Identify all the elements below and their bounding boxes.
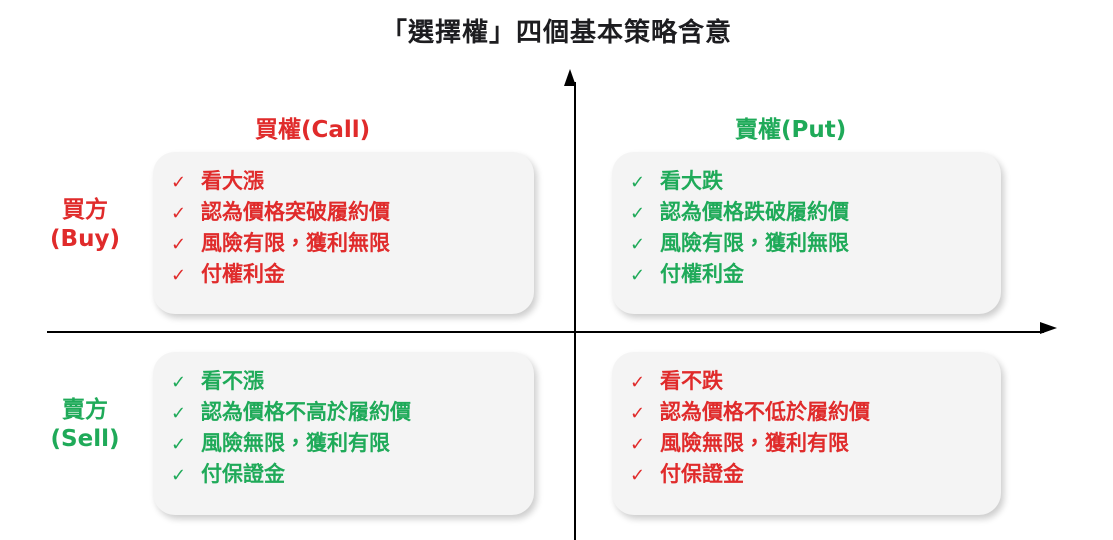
check-icon: ✓	[630, 170, 660, 196]
list-item: ✓ 看不漲	[171, 366, 516, 397]
list-item: ✓ 認為價格不高於履約價	[171, 397, 516, 428]
list-item-label: 看不漲	[201, 366, 264, 397]
list-item-label: 付保證金	[201, 459, 285, 490]
diagram-canvas: 「選擇權」四個基本策略含意 買權(Call) 賣權(Put) 買方 (Buy) …	[0, 0, 1113, 540]
check-icon: ✓	[171, 401, 201, 427]
list-item-label: 認為價格不低於履約價	[660, 397, 870, 428]
bullet-list-sell-put: ✓ 看不跌 ✓ 認為價格不低於履約價 ✓ 風險無限，獲利有限 ✓ 付保證金	[630, 366, 983, 489]
vertical-axis-line	[574, 82, 576, 540]
list-item: ✓ 付保證金	[171, 459, 516, 490]
check-icon: ✓	[630, 201, 660, 227]
row-header-buy-line2: (Buy)	[20, 225, 150, 254]
check-icon: ✓	[630, 370, 660, 396]
list-item-label: 看不跌	[660, 366, 723, 397]
list-item-label: 付權利金	[660, 259, 744, 290]
list-item-label: 風險無限，獲利有限	[660, 428, 849, 459]
check-icon: ✓	[171, 463, 201, 489]
list-item-label: 認為價格跌破履約價	[660, 197, 849, 228]
row-header-sell-line2: (Sell)	[20, 425, 150, 454]
check-icon: ✓	[171, 370, 201, 396]
page-title: 「選擇權」四個基本策略含意	[0, 12, 1113, 49]
list-item: ✓ 認為價格突破履約價	[171, 197, 516, 228]
list-item-label: 看大跌	[660, 166, 723, 197]
list-item: ✓ 認為價格跌破履約價	[630, 197, 983, 228]
list-item: ✓ 看大漲	[171, 166, 516, 197]
list-item: ✓ 風險無限，獲利有限	[171, 428, 516, 459]
check-icon: ✓	[171, 201, 201, 227]
list-item: ✓ 看不跌	[630, 366, 983, 397]
check-icon: ✓	[630, 463, 660, 489]
bullet-list-sell-call: ✓ 看不漲 ✓ 認為價格不高於履約價 ✓ 風險無限，獲利有限 ✓ 付保證金	[171, 366, 516, 489]
bullet-list-buy-call: ✓ 看大漲 ✓ 認為價格突破履約價 ✓ 風險有限，獲利無限 ✓ 付權利金	[171, 166, 516, 289]
list-item-label: 風險有限，獲利無限	[660, 228, 849, 259]
arrow-right-icon	[1040, 322, 1057, 334]
check-icon: ✓	[630, 263, 660, 289]
quadrant-card-sell-call: ✓ 看不漲 ✓ 認為價格不高於履約價 ✓ 風險無限，獲利有限 ✓ 付保證金	[153, 352, 534, 515]
bullet-list-buy-put: ✓ 看大跌 ✓ 認為價格跌破履約價 ✓ 風險有限，獲利無限 ✓ 付權利金	[630, 166, 983, 289]
list-item: ✓ 付權利金	[630, 259, 983, 290]
row-header-sell-line1: 賣方	[20, 396, 150, 425]
list-item-label: 付權利金	[201, 259, 285, 290]
list-item: ✓ 付權利金	[171, 259, 516, 290]
row-header-buy-line1: 買方	[20, 196, 150, 225]
list-item: ✓ 認為價格不低於履約價	[630, 397, 983, 428]
list-item: ✓ 付保證金	[630, 459, 983, 490]
quadrant-card-sell-put: ✓ 看不跌 ✓ 認為價格不低於履約價 ✓ 風險無限，獲利有限 ✓ 付保證金	[612, 352, 1001, 515]
check-icon: ✓	[171, 432, 201, 458]
check-icon: ✓	[171, 170, 201, 196]
list-item: ✓ 風險無限，獲利有限	[630, 428, 983, 459]
list-item: ✓ 風險有限，獲利無限	[171, 228, 516, 259]
list-item: ✓ 風險有限，獲利無限	[630, 228, 983, 259]
quadrant-card-buy-put: ✓ 看大跌 ✓ 認為價格跌破履約價 ✓ 風險有限，獲利無限 ✓ 付權利金	[612, 152, 1001, 314]
column-header-call: 買權(Call)	[255, 110, 370, 144]
horizontal-axis-line	[47, 331, 1044, 333]
list-item-label: 認為價格突破履約價	[201, 197, 390, 228]
row-header-buy: 買方 (Buy)	[20, 196, 150, 254]
check-icon: ✓	[630, 401, 660, 427]
check-icon: ✓	[630, 232, 660, 258]
check-icon: ✓	[171, 263, 201, 289]
arrow-up-icon	[564, 69, 576, 86]
quadrant-card-buy-call: ✓ 看大漲 ✓ 認為價格突破履約價 ✓ 風險有限，獲利無限 ✓ 付權利金	[153, 152, 534, 314]
list-item-label: 風險有限，獲利無限	[201, 228, 390, 259]
list-item-label: 看大漲	[201, 166, 264, 197]
column-header-put: 賣權(Put)	[735, 110, 846, 144]
list-item: ✓ 看大跌	[630, 166, 983, 197]
check-icon: ✓	[171, 232, 201, 258]
check-icon: ✓	[630, 432, 660, 458]
list-item-label: 付保證金	[660, 459, 744, 490]
row-header-sell: 賣方 (Sell)	[20, 396, 150, 454]
list-item-label: 風險無限，獲利有限	[201, 428, 390, 459]
list-item-label: 認為價格不高於履約價	[201, 397, 411, 428]
